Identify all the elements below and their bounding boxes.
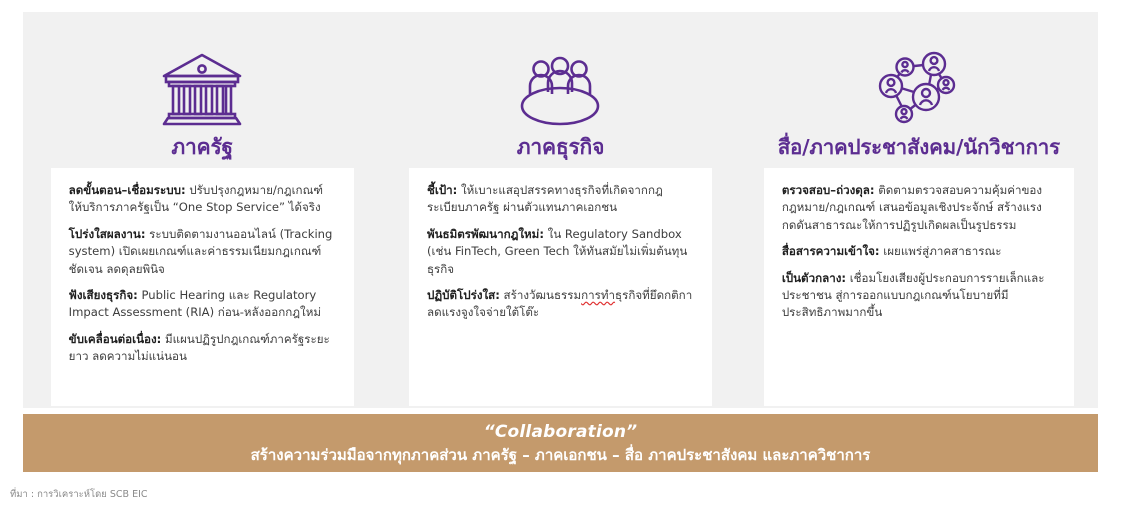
meeting-table-people-icon [514,26,606,128]
bullet-label: พันธมิตรพัฒนากฎใหม่: [427,227,544,241]
bullet-item: โปร่งใสผลงาน: ระบบติดตามงานออนไลน์ (Trac… [69,226,336,278]
bullet-item: ชี้เป้า: ให้เบาะแสอุปสรรคทางธุรกิจที่เกิ… [427,182,694,217]
bullet-item: พันธมิตรพัฒนากฎใหม่: ใน Regulatory Sandb… [427,226,694,278]
column-media-civil-academic: สื่อ/ภาคประชาสังคม/นักวิชาการ ตรวจสอบ–ถ่… [740,12,1098,408]
bullet-text: ให้เบาะแสอุปสรรคทางธุรกิจที่เกิดจากกฎระเ… [427,183,663,214]
bullet-label: ตรวจสอบ–ถ่วงดุล: [782,183,875,197]
bullet-item: ลดขั้นตอน–เชื่อมระบบ: ปรับปรุงกฎหมาย/กฎเ… [69,182,336,217]
bullet-item: เป็นตัวกลาง: เชื่อมโยงเสียงผู้ประกอบการร… [782,270,1056,322]
column-card: ตรวจสอบ–ถ่วงดุล: ติดตามตรวจสอบความคุ้มค่… [764,168,1074,406]
bullet-item: สื่อสารความเข้าใจ: เผยแพร่สู่ภาคสาธารณะ [782,243,1056,260]
column-card: ลดขั้นตอน–เชื่อมระบบ: ปรับปรุงกฎหมาย/กฎเ… [51,168,354,406]
collaboration-banner: “Collaboration” สร้างความร่วมมือจากทุกภา… [23,414,1098,472]
bullet-label: โปร่งใสผลงาน: [69,227,146,241]
column-title: ภาคธุรกิจ [517,134,604,160]
banner-title: “Collaboration” [484,422,638,443]
bullet-item: ขับเคลื่อนต่อเนื่อง: มีแผนปฏิรูปกฎเกณฑ์ภ… [69,331,336,366]
infographic-root: ภาครัฐ ลดขั้นตอน–เชื่อมระบบ: ปรับปรุงกฎห… [0,0,1121,515]
column-public-sector: ภาครัฐ ลดขั้นตอน–เชื่อมระบบ: ปรับปรุงกฎห… [23,12,381,408]
spellcheck-flagged-text: การทำ [581,288,615,302]
column-business-sector: ภาคธุรกิจ ชี้เป้า: ให้เบาะแสอุปสรรคทางธุ… [381,12,739,408]
stakeholder-columns: ภาครัฐ ลดขั้นตอน–เชื่อมระบบ: ปรับปรุงกฎห… [23,12,1098,408]
bank-building-icon [159,26,245,128]
bullet-text: เผยแพร่สู่ภาคสาธารณะ [880,244,1002,258]
source-note: ที่มา : การวิเคราะห์โดย SCB EIC [10,489,148,501]
bullet-label: สื่อสารความเข้าใจ: [782,244,880,258]
column-title: สื่อ/ภาคประชาสังคม/นักวิชาการ [778,134,1060,160]
bullet-label: ชี้เป้า: [427,183,457,197]
bullet-text: สร้างวัฒนธรรม [500,288,581,302]
people-network-icon [871,26,967,128]
bullet-label: เป็นตัวกลาง: [782,271,846,285]
bullet-item: ฟังเสียงธุรกิจ: Public Hearing และ Regul… [69,287,336,322]
bullet-label: ฟังเสียงธุรกิจ: [69,288,138,302]
banner-subtitle: สร้างความร่วมมือจากทุกภาคส่วน ภาครัฐ – ภ… [251,445,871,465]
bullet-item: ปฏิบัติโปร่งใส: สร้างวัฒนธรรมการทำธุรกิจ… [427,287,694,322]
bullet-label: ปฏิบัติโปร่งใส: [427,288,500,302]
bullet-label: ลดขั้นตอน–เชื่อมระบบ: [69,183,186,197]
column-card: ชี้เป้า: ให้เบาะแสอุปสรรคทางธุรกิจที่เกิ… [409,168,712,406]
bullet-item: ตรวจสอบ–ถ่วงดุล: ติดตามตรวจสอบความคุ้มค่… [782,182,1056,234]
bullet-label: ขับเคลื่อนต่อเนื่อง: [69,332,162,346]
column-title: ภาครัฐ [171,134,233,160]
